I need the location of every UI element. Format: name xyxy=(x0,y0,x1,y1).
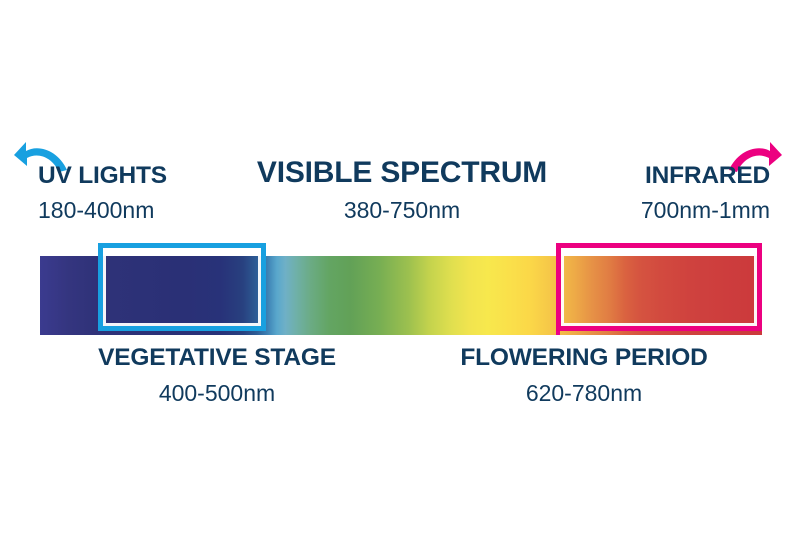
visible-spectrum-title: VISIBLE SPECTRUM xyxy=(250,158,554,188)
flowering-period-range: 620-780nm xyxy=(445,382,723,405)
flowering-period-label: FLOWERING PERIOD 620-780nm xyxy=(445,346,723,405)
infrared-range: 700nm-1mm xyxy=(641,199,770,222)
vegetative-stage-highlight-box xyxy=(98,243,266,331)
visible-spectrum-range: 380-750nm xyxy=(250,199,554,222)
vegetative-stage-title: VEGETATIVE STAGE xyxy=(82,346,352,371)
uv-lights-title: UV LIGHTS xyxy=(38,164,167,189)
uv-lights-range: 180-400nm xyxy=(38,199,167,222)
vegetative-stage-label: VEGETATIVE STAGE 400-500nm xyxy=(82,346,352,405)
infrared-title: INFRARED xyxy=(641,164,770,189)
flowering-period-highlight-box xyxy=(556,243,762,331)
infrared-label: INFRARED 700nm-1mm xyxy=(641,164,770,222)
visible-spectrum-label: VISIBLE SPECTRUM 380-750nm xyxy=(250,158,554,222)
vegetative-stage-range: 400-500nm xyxy=(82,382,352,405)
spectrum-infographic: UV LIGHTS 180-400nm VISIBLE SPECTRUM 380… xyxy=(0,0,800,533)
flowering-period-title: FLOWERING PERIOD xyxy=(445,346,723,371)
uv-lights-label: UV LIGHTS 180-400nm xyxy=(38,164,167,222)
